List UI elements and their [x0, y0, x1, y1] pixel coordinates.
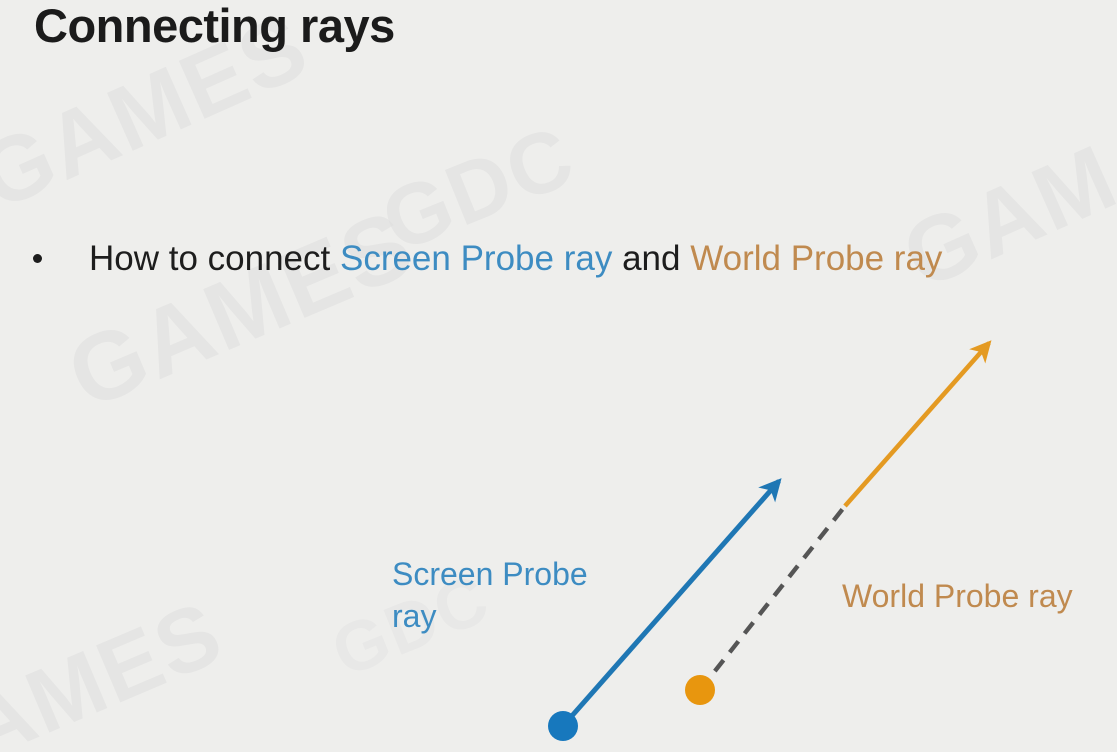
ray-diagram [0, 0, 1117, 752]
slide-canvas: GAMES GDC GAMES GAM AMES GDC Connecting … [0, 0, 1117, 752]
world-probe-ray-label: World Probe ray [842, 575, 1073, 617]
screen-probe-ray-label: Screen Probe ray [392, 553, 627, 637]
screen-probe-origin-dot [548, 711, 578, 741]
dashed-connection-line [700, 506, 845, 690]
world-probe-origin-dot [685, 675, 715, 705]
world-probe-ray-arrow [845, 343, 989, 506]
